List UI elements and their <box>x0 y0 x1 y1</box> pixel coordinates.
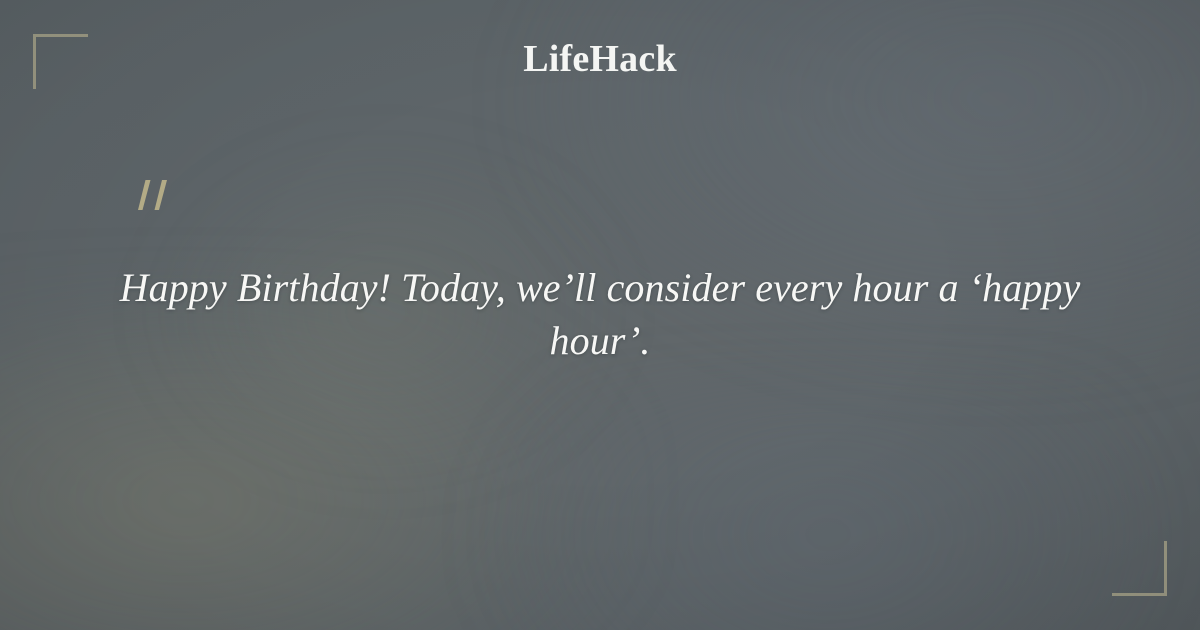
quote-card: LifeHack Happy Birthday! Today, we’ll co… <box>0 0 1200 630</box>
quote-container: Happy Birthday! Today, we’ll consider ev… <box>80 262 1120 368</box>
quote-text: Happy Birthday! Today, we’ll consider ev… <box>80 262 1120 368</box>
brand-logo: LifeHack <box>0 39 1200 81</box>
double-quote-icon <box>130 178 176 226</box>
corner-bracket-bottom-right-icon <box>1112 541 1167 596</box>
